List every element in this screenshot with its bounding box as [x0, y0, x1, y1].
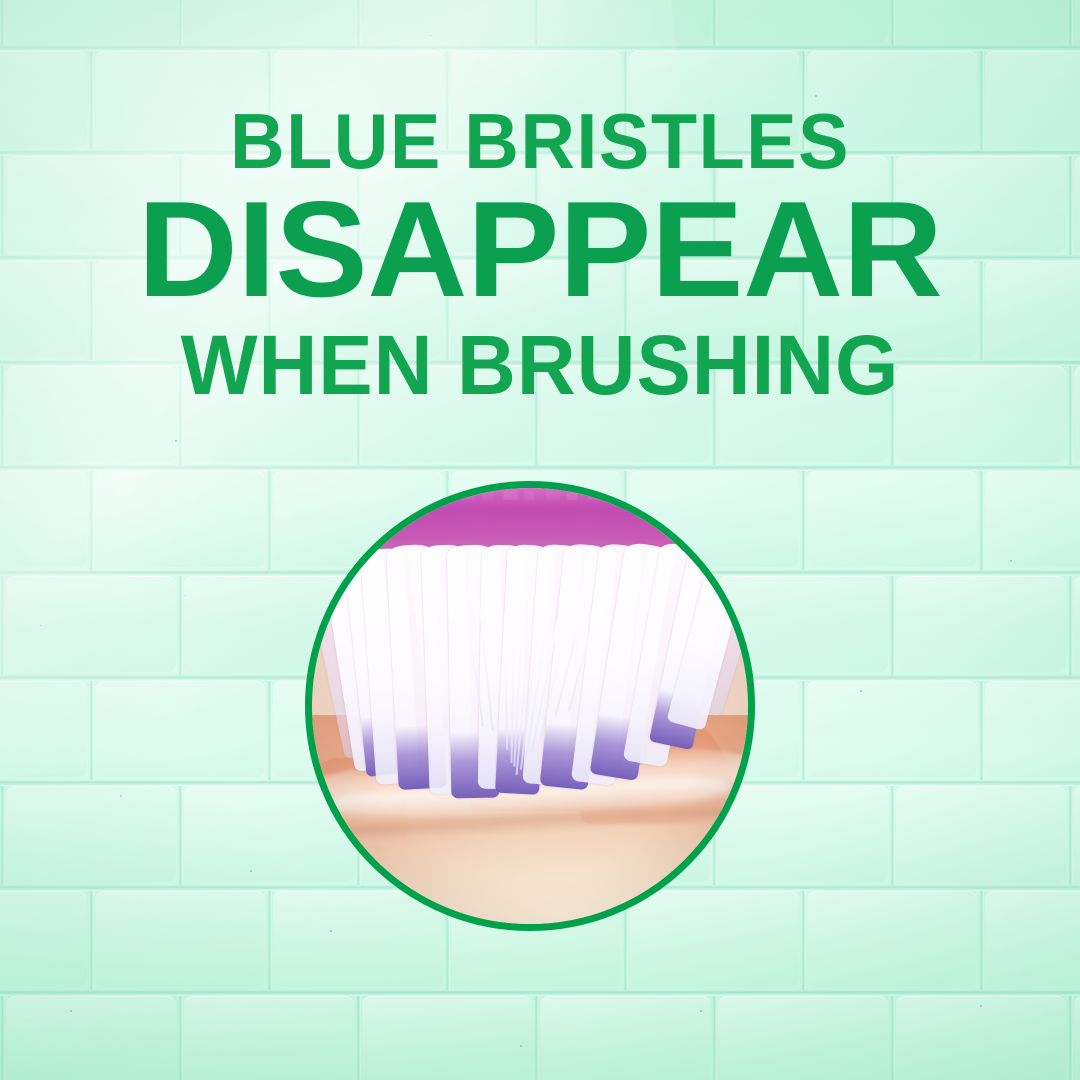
grout-line-vertical	[89, 681, 94, 780]
grout-line-vertical	[979, 471, 984, 570]
grout-line-vertical	[0, 786, 5, 885]
wall-tile	[807, 891, 977, 987]
grout-line-vertical	[1068, 996, 1073, 1080]
grout-line-vertical	[801, 471, 806, 570]
headline-line-1: BLUE BRISTLES	[16, 104, 1064, 179]
wall-tile	[1074, 0, 1080, 42]
grout-line-vertical	[0, 996, 5, 1080]
wall-tile	[1074, 786, 1080, 882]
wall-tile	[362, 0, 532, 42]
wall-tile	[6, 786, 176, 882]
grout-line-vertical	[979, 891, 984, 990]
wall-tile	[6, 576, 176, 672]
wall-tile	[95, 471, 265, 567]
wall-speck	[1010, 560, 1012, 562]
wall-tile	[985, 891, 1080, 987]
ad-canvas: BLUE BRISTLES DISAPPEAR WHEN BRUSHING	[0, 0, 1080, 1080]
wall-tile	[896, 786, 1066, 882]
wall-tile	[95, 681, 265, 777]
grout-line-vertical	[712, 0, 717, 45]
headline-line-2: DISAPPEAR	[0, 185, 1080, 314]
grout-line-vertical	[267, 681, 272, 780]
grout-line-vertical	[801, 891, 806, 990]
wall-speck	[70, 1010, 72, 1012]
wall-tile	[1074, 996, 1080, 1080]
headline-line-3: WHEN BRUSHING	[16, 324, 1064, 406]
grout-line-vertical	[801, 681, 806, 780]
wall-speck	[980, 1005, 982, 1007]
wall-tile	[0, 891, 87, 987]
grout-line-vertical	[89, 471, 94, 570]
wall-tile	[896, 576, 1066, 672]
wall-speck	[700, 1010, 702, 1012]
wall-speck	[250, 870, 252, 872]
grout-line-vertical	[1068, 0, 1073, 45]
wall-tile	[985, 471, 1080, 567]
wall-tile	[0, 471, 87, 567]
grout-line-vertical	[178, 786, 183, 885]
wall-tile	[6, 996, 176, 1080]
wall-tile	[540, 0, 710, 42]
grout-line-vertical	[356, 0, 361, 45]
wall-tile	[6, 0, 176, 42]
grout-line-vertical	[356, 996, 361, 1080]
wall-tile	[896, 0, 1066, 42]
grout-line-vertical	[1068, 786, 1073, 885]
wall-tile	[896, 996, 1066, 1080]
product-photo-circle	[305, 481, 755, 931]
grout-line-vertical	[979, 681, 984, 780]
grout-line-vertical	[178, 0, 183, 45]
photo-inner	[312, 488, 748, 924]
wall-speck	[520, 1045, 522, 1047]
grout-line-vertical	[534, 996, 539, 1080]
grout-line-vertical	[178, 576, 183, 675]
wall-speck	[175, 440, 177, 442]
wall-speck	[860, 690, 862, 692]
grout-line-vertical	[267, 471, 272, 570]
wall-tile	[1074, 576, 1080, 672]
grout-line-vertical	[178, 996, 183, 1080]
grout-line-vertical	[890, 0, 895, 45]
grout-line-vertical	[89, 891, 94, 990]
wall-speck	[330, 930, 332, 932]
wall-tile	[718, 0, 888, 42]
wall-tile	[718, 996, 888, 1080]
grout-line-vertical	[1068, 576, 1073, 675]
grout-line-vertical	[0, 0, 5, 45]
wall-tile	[184, 0, 354, 42]
grout-line-vertical	[890, 996, 895, 1080]
wall-tile	[540, 996, 710, 1080]
wall-tile	[807, 681, 977, 777]
grout-line-vertical	[0, 576, 5, 675]
grout-line-vertical	[712, 996, 717, 1080]
wall-tile	[807, 471, 977, 567]
wall-tile	[985, 681, 1080, 777]
grout-line-vertical	[267, 891, 272, 990]
wall-tile	[184, 996, 354, 1080]
grout-line-vertical	[534, 0, 539, 45]
grout-line-vertical	[890, 576, 895, 675]
headline-block: BLUE BRISTLES DISAPPEAR WHEN BRUSHING	[0, 104, 1080, 406]
wall-tile	[95, 891, 265, 987]
wall-tile	[362, 996, 532, 1080]
wall-tile	[0, 681, 87, 777]
grout-line-vertical	[890, 786, 895, 885]
